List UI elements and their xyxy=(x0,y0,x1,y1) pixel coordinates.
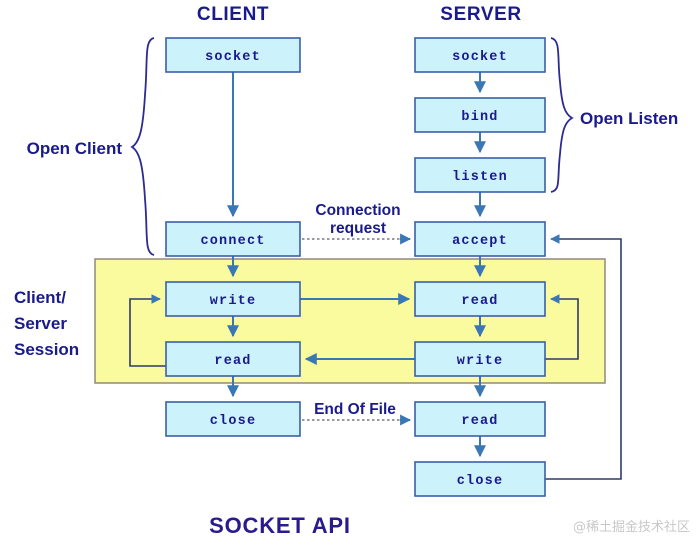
figure-title: SOCKET API xyxy=(209,513,351,538)
socket-api-diagram: socketconnectwritereadclose socketbindli… xyxy=(0,0,700,550)
connection-request-label-line2: request xyxy=(330,220,386,237)
watermark: @稀土掘金技术社区 xyxy=(573,519,690,535)
client-column-title: CLIENT xyxy=(197,4,269,25)
session-label-line1: Client/ xyxy=(14,288,66,307)
server-column-title: SERVER xyxy=(440,4,521,25)
connection-request-label-line1: Connection xyxy=(315,202,400,219)
session-label-line3: Session xyxy=(14,340,79,359)
open-listen-label: Open Listen xyxy=(580,109,678,128)
open-client-label: Open Client xyxy=(27,139,123,158)
end-of-file-label: End Of File xyxy=(314,401,396,418)
text-layer: CLIENT SERVER Open Client Open Listen Cl… xyxy=(0,0,700,550)
session-label-line2: Server xyxy=(14,314,67,333)
